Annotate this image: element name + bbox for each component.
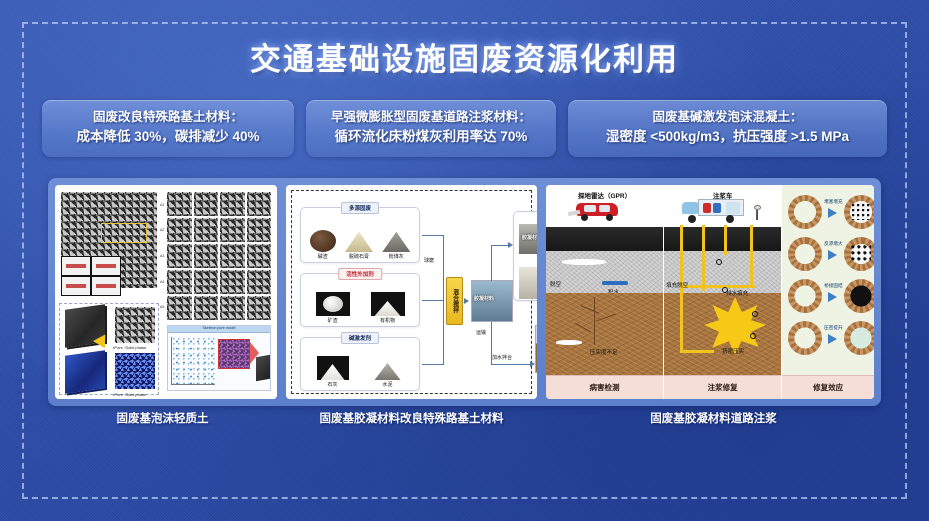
- label-fill-void: 填充脱空: [666, 281, 688, 289]
- material-flowchart: 多源固废 碱渣 脱硫石膏 粉煤灰: [286, 185, 537, 399]
- sem-inset-measurement-grid: [61, 256, 121, 296]
- pore-legend-binarized: ▪Pore ▫Solid phase: [113, 392, 146, 397]
- detection-base-layer: [546, 251, 663, 293]
- pore-model-header-skeleton: Skeleton pore model: [168, 326, 270, 333]
- figure-panel-foam-lightweight-soil[interactable]: A1 A2 A3 A4 A5 ▪Pore ▫Solid phase: [55, 185, 277, 399]
- pore-before-3: [788, 279, 822, 313]
- organic-swatch: [371, 292, 405, 316]
- group-lab-test: 室内试验 胶凝材料 特殊土 σ ε: [513, 211, 537, 301]
- void-defect-deep: [556, 340, 582, 345]
- water-defect-shape: [602, 281, 628, 285]
- effect-label-2: 反渗增大: [824, 241, 842, 247]
- effect-arrow-2: [828, 250, 837, 260]
- banner-grouting-material-line2: 循环流化床粉煤灰利用率达 70%: [318, 127, 544, 148]
- detection-asphalt-layer: [546, 227, 663, 251]
- label-compaction-densify: 挤密压实: [722, 347, 744, 355]
- sem-pore-figure: A1 A2 A3 A4 A5 ▪Pore ▫Solid phase: [55, 185, 277, 399]
- detection-soil-layer: [546, 293, 663, 375]
- cement-swatch: [372, 356, 404, 380]
- pore-before-4: [788, 321, 822, 355]
- material-item-cement: 水泥: [372, 356, 404, 388]
- pore-after-2: [844, 237, 874, 271]
- grout-pipe-3: [724, 225, 727, 255]
- connector-to-lab-h: [491, 245, 509, 246]
- pore-before-2: [788, 237, 822, 271]
- label-void: 脱空: [550, 280, 561, 288]
- label-water-mixing: 加水拌合: [492, 354, 512, 361]
- group-solid-waste-header: 多源固废: [341, 202, 379, 214]
- road-grouting-figure: 探地雷达（GPR） 脱空 积水: [546, 185, 874, 399]
- grout-pipe-2: [702, 225, 705, 291]
- label-grinding: 球磨: [424, 257, 434, 264]
- gypsum-swatch: [345, 230, 373, 252]
- group-alkali-activator-header: 碱激发剂: [341, 332, 379, 344]
- effect-arrow-4: [828, 334, 837, 344]
- banner-roadbed-soil-line2: 成本降低 30%，碳排减少 40%: [54, 127, 282, 148]
- material-item-flyash: 粉煤灰: [382, 230, 410, 260]
- repair-foot-label: 注浆修复: [664, 375, 781, 399]
- jianzha-swatch: [310, 230, 336, 252]
- caption-foam-lightweight-soil: 固废基泡沫轻质土: [48, 410, 277, 426]
- gpr-vehicle-icon: [568, 201, 624, 223]
- grout-bottom-spread: [680, 350, 714, 353]
- connector-bus: [443, 235, 444, 365]
- banner-grouting-material[interactable]: 早强微膨胀型固废基道路注浆材料： 循环流化床粉煤灰利用率达 70%: [306, 100, 556, 157]
- pore-after-4: [844, 321, 874, 355]
- grouting-column-detection: 探地雷达（GPR） 脱空 积水: [546, 185, 664, 399]
- figures-container: A1 A2 A3 A4 A5 ▪Pore ▫Solid phase: [48, 178, 881, 406]
- figure-panel-binder-improved-soil[interactable]: 多源固废 碱渣 脱硫石膏 粉煤灰: [286, 185, 537, 399]
- material-item-jianzha: 碱渣: [310, 230, 336, 260]
- material-item-slag: 矿渣: [316, 292, 350, 324]
- detection-foot-label: 病害检测: [546, 375, 663, 399]
- arrow-to-binder: [464, 298, 469, 304]
- grout-pipe-4: [750, 225, 753, 287]
- caption-road-grouting: 固废基胶凝材料道路注浆: [546, 410, 881, 426]
- pore-after-3: [844, 279, 874, 313]
- pore-legend-grayscale: ▪Pore ▫Solid phase: [113, 345, 146, 350]
- grouting-column-repair: 注浆车: [664, 185, 782, 399]
- crack-main: [594, 297, 595, 345]
- effects-foot-label: 修复效应: [782, 375, 874, 399]
- caption-row: 固废基泡沫轻质土 固废基胶凝材料改良特殊路基土材料 固废基胶凝材料道路注浆: [48, 410, 881, 432]
- sample-cube-icon: [256, 355, 270, 381]
- caption-binder-improved-soil: 固废基胶凝材料改良特殊路基土材料: [286, 410, 537, 426]
- lime-swatch: [317, 356, 349, 380]
- banner-roadbed-soil-line1: 固废改良特殊路基土材料：: [54, 108, 282, 127]
- pore-cube-binarized: [65, 350, 105, 394]
- grout-horizontal-spread: [680, 285, 756, 288]
- effect-label-4: 压密提升: [824, 325, 842, 331]
- detection-top-label: 探地雷达（GPR）: [546, 190, 663, 200]
- group-solid-waste: 多源固废 碱渣 脱硫石膏 粉煤灰: [300, 207, 420, 263]
- connector-to-lab: [491, 245, 492, 281]
- pore-slice-grayscale: [115, 307, 155, 343]
- connector-transport-h: [491, 364, 531, 365]
- effect-arrow-3: [828, 292, 837, 302]
- material-item-lime: 石灰: [317, 356, 349, 388]
- pore-slice-binarized: [115, 353, 155, 389]
- banner-roadbed-soil[interactable]: 固废改良特殊路基土材料： 成本降低 30%，碳排减少 40%: [42, 100, 294, 157]
- pore-network-model-subfigure: Skeleton pore model: [167, 325, 271, 391]
- slag-swatch: [316, 292, 350, 316]
- grout-pipe-1: [680, 225, 683, 353]
- worker-icon: [750, 205, 766, 225]
- flyash-swatch: [382, 230, 410, 252]
- void-defect-shape: [562, 259, 606, 265]
- label-drain-fill: 排水填充: [726, 289, 748, 297]
- material-item-organic: 有机物: [371, 292, 405, 324]
- skeleton-pore-network: [171, 337, 215, 385]
- connector-3: [422, 364, 444, 365]
- label-compaction: 压实度不足: [590, 348, 618, 356]
- effect-label-1: 堵塞增充: [824, 199, 842, 205]
- group-active-admixture: 活性外加剂 矿渣 有机物: [300, 273, 420, 327]
- ball-stick-model-image: [218, 339, 250, 369]
- specimen-photo: [519, 267, 537, 299]
- material-item-gypsum: 脱硫石膏: [345, 230, 373, 260]
- pore-after-1: [844, 195, 874, 229]
- site-construction-photo: [535, 325, 537, 373]
- connector-1: [422, 235, 444, 236]
- page-title-container: 交通基础设施固废资源化利用: [0, 34, 929, 79]
- label-binder: 胶凝材料: [474, 295, 494, 302]
- banner-foam-concrete[interactable]: 固废基碱激发泡沫混凝土： 湿密度 <500kg/m3，抗压强度 >1.5 MPa: [568, 100, 887, 157]
- banner-row: 固废改良特殊路基土材料： 成本降低 30%，碳排减少 40% 早强微膨胀型固废基…: [42, 100, 887, 157]
- banner-grouting-material-line1: 早强微膨胀型固废基道路注浆材料：: [318, 108, 544, 127]
- group-active-admixture-header: 活性外加剂: [338, 268, 382, 280]
- figure-panel-road-grouting[interactable]: 探地雷达（GPR） 脱空 积水: [546, 185, 874, 399]
- lab-sample-binder-label: 胶凝材料: [522, 234, 537, 241]
- page-title: 交通基础设施固废资源化利用: [250, 34, 679, 79]
- effect-label-3: 桥接固结: [824, 283, 842, 289]
- banner-foam-concrete-line1: 固废基碱激发泡沫混凝土：: [580, 108, 875, 127]
- group-alkali-activator: 碱激发剂 石灰 水泥: [300, 337, 420, 391]
- connector-2: [422, 300, 444, 301]
- mixing-node: 混合搅拌: [446, 277, 463, 325]
- sem-micrograph-grid: [167, 192, 271, 320]
- grouting-column-effects: 堵塞增充 反渗增大 桥接固结 压密提升: [782, 185, 874, 399]
- label-transport: 运输: [476, 329, 486, 336]
- sem-roi-box: [101, 223, 147, 243]
- pore-before-1: [788, 195, 822, 229]
- grouting-truck-icon: [682, 199, 746, 225]
- effect-arrow-1: [828, 208, 837, 218]
- banner-foam-concrete-line2: 湿密度 <500kg/m3，抗压强度 >1.5 MPa: [580, 127, 875, 148]
